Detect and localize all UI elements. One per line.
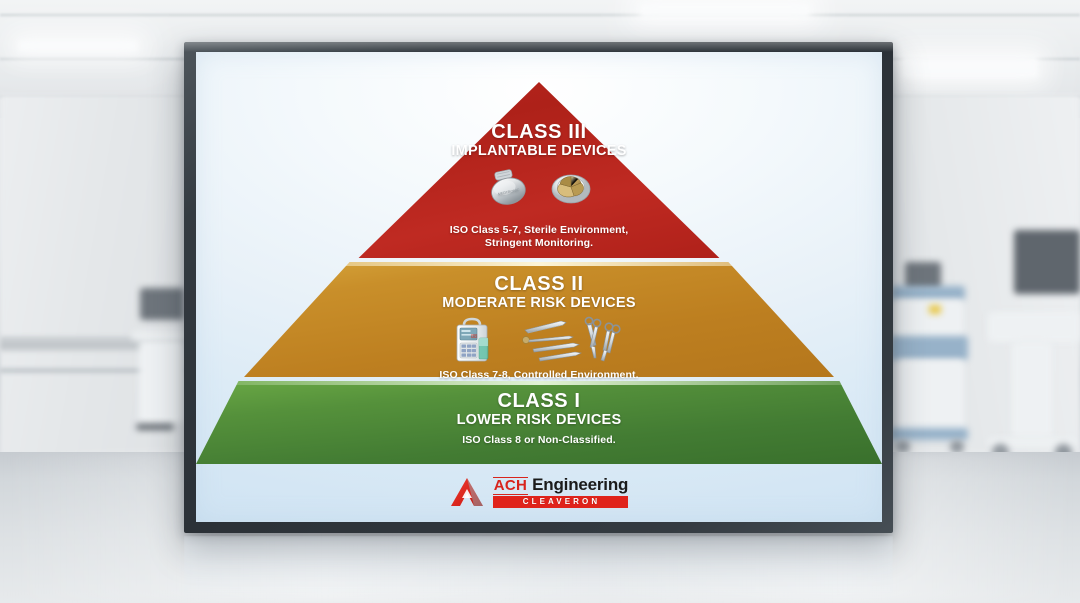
logo-engineering-text: Engineering [532, 475, 628, 495]
pyramid-tier-class-3[interactable]: CLASS III IMPLANTABLE DEVICES [196, 82, 882, 258]
tier-subtitle-class-2: MODERATE RISK DEVICES [442, 295, 636, 312]
ultrasound-console [988, 312, 1080, 342]
pyramid-tier-class-2[interactable]: CLASS II MODERATE RISK DEVICES [196, 262, 882, 377]
ceiling-light-panel [18, 40, 138, 52]
equipment-cart [139, 340, 187, 422]
equipment-base [890, 428, 968, 440]
logo-ach-text: ACH [493, 477, 528, 495]
infusion-pump-icon: 88 [451, 316, 495, 369]
wall-display[interactable]: CLASS III IMPLANTABLE DEVICES [184, 42, 893, 533]
equipment-drawer [890, 336, 968, 360]
display-screen: CLASS III IMPLANTABLE DEVICES [196, 52, 882, 522]
logo-band-text: CLEAVERON [493, 496, 628, 508]
tier-note-class-1: ISO Class 8 or Non-Classified. [462, 434, 616, 448]
wall-monitor-icon [1014, 230, 1080, 294]
pacemaker-icon: MEDTRONIC [484, 167, 534, 212]
heart-valve-icon [548, 167, 594, 212]
equipment-indicator [929, 305, 941, 314]
pyramid-tier-class-1[interactable]: CLASS I LOWER RISK DEVICES ISO Class 8 o… [196, 381, 882, 464]
tier-icons-class-2: 88 [451, 316, 627, 369]
tier-title-class-3: CLASS III [491, 121, 586, 143]
company-logo[interactable]: ACH Engineering CLEAVERON [196, 475, 882, 508]
tier-icons-class-3: MEDTRONIC [484, 167, 594, 212]
classification-pyramid: CLASS III IMPLANTABLE DEVICES [196, 82, 882, 464]
tier-title-class-1: CLASS I [497, 390, 580, 412]
equipment-cart [891, 286, 965, 300]
svg-text:88: 88 [471, 334, 477, 340]
logo-wordmark: ACH Engineering CLEAVERON [493, 475, 628, 508]
display-floor-reflection [184, 536, 893, 603]
ceiling-light-panel [902, 56, 1038, 78]
ceiling-seam [0, 14, 1080, 16]
ceiling-light-panel [640, 4, 810, 18]
ach-triangle-icon [450, 477, 484, 507]
tier-subtitle-class-3: IMPLANTABLE DEVICES [451, 143, 626, 160]
tier-title-class-2: CLASS II [494, 273, 583, 295]
tier-note-class-3: ISO Class 5-7, Sterile Environment, Stri… [432, 224, 647, 251]
tier-subtitle-class-1: LOWER RISK DEVICES [457, 412, 622, 429]
equipment-cart [893, 300, 963, 338]
reflection-screen [184, 536, 893, 603]
ultrasound-cart [1012, 342, 1052, 438]
cart-base [136, 424, 174, 430]
surgical-instruments-icon [517, 316, 627, 369]
equipment-cart [898, 360, 964, 436]
monitor-icon [140, 288, 184, 320]
